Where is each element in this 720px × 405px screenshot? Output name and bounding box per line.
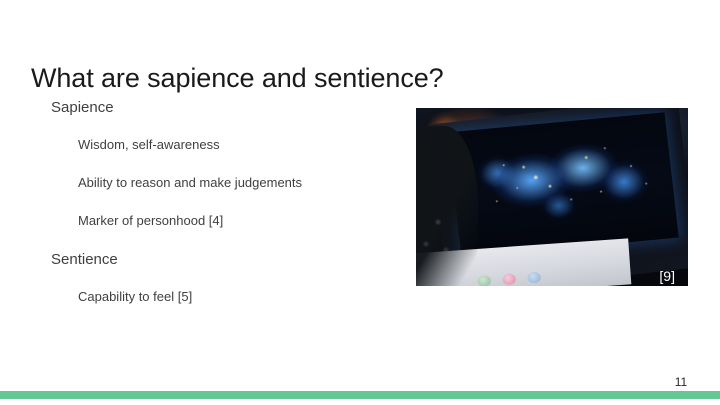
list-item: Wisdom, self-awareness [78, 138, 400, 176]
list-item: Capability to feel [5] [78, 290, 400, 328]
list-item: Sapience [51, 100, 400, 138]
list-item: Marker of personhood [4] [78, 214, 400, 252]
bullet-list: Sapience Wisdom, self-awareness Ability … [0, 100, 400, 328]
photo-foreground-silhouette [416, 126, 478, 286]
slide: What are sapience and sentience? Sapienc… [0, 0, 720, 405]
heart-sticker-green-icon [477, 275, 491, 286]
photo-map-city-lights [447, 112, 678, 257]
page-title: What are sapience and sentience? [31, 63, 444, 94]
heart-sticker-pink-icon [502, 273, 516, 285]
laptop-world-map-photo: [9] [416, 108, 688, 286]
page-number: 11 [668, 375, 694, 389]
list-item: Ability to reason and make judgements [78, 176, 400, 214]
list-item: Sentience [51, 252, 400, 290]
heart-sticker-blue-icon [527, 272, 541, 284]
figure-caption: [9] [659, 268, 675, 284]
footer-accent-bar [0, 391, 720, 399]
